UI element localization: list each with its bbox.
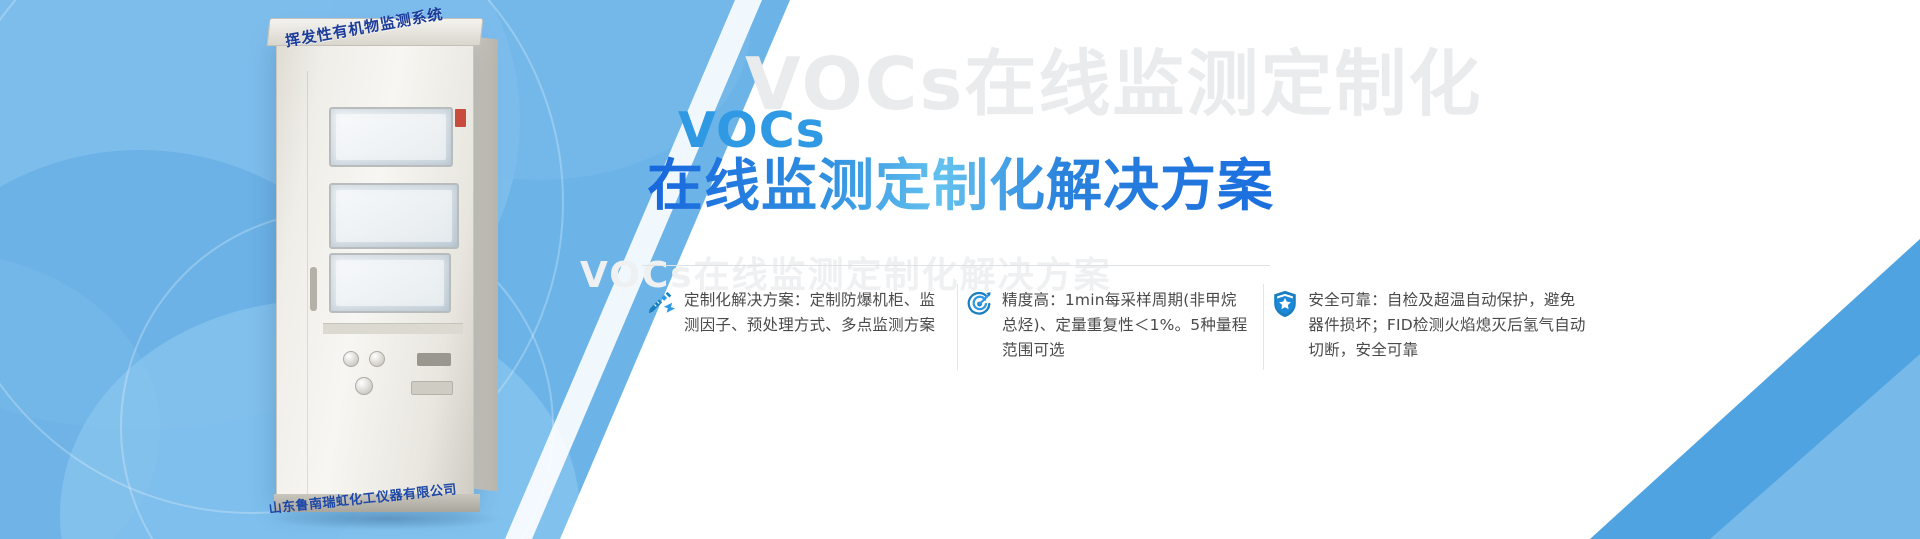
shield-star-icon — [1270, 289, 1300, 319]
feature-text: 安全可靠：自检及超温自动保护，避免器件损坏；FID检测火焰熄灭后氢气自动切断，安… — [1308, 288, 1586, 363]
cabinet-red-indicator — [455, 109, 466, 127]
banner-text-column: VOCs在线监测定制化 VOCs 在线监测定制化解决方案 VOCs在线监测定制化… — [640, 0, 1640, 539]
cabinet-small-display — [417, 353, 451, 366]
target-arrow-icon — [964, 289, 994, 319]
cabinet-door-seam — [307, 71, 308, 509]
cabinet-control-strip — [323, 323, 463, 334]
cabinet-knob — [369, 351, 385, 367]
feature-text: 精度高：1min每采样周期(非甲烷总烃)、定量重复性＜1%。5种量程范围可选 — [1002, 288, 1250, 363]
headline-english: VOCs — [678, 106, 826, 155]
feature-item: 安全可靠：自检及超温自动保护，避免器件损坏；FID检测火焰熄灭后氢气自动切断，安… — [1264, 288, 1600, 363]
cabinet-handle — [310, 267, 317, 311]
ghost-watermark-top: VOCs在线监测定制化 — [745, 48, 1482, 120]
product-photo: 挥发性有机物监测系统 山东鲁南瑞虹化工仪器有限公司 — [258, 8, 518, 528]
feature-text: 定制化解决方案：定制防爆机柜、监测因子、预处理方式、多点监测方案 — [684, 288, 944, 338]
cabinet-small-display — [411, 381, 453, 395]
feature-list: 定制化解决方案：定制防爆机柜、监测因子、预处理方式、多点监测方案 精度高：1mi… — [640, 288, 1600, 363]
horizontal-divider — [642, 265, 1270, 266]
instrument-display-2 — [329, 183, 459, 249]
pencil-ruler-icon — [646, 289, 676, 319]
feature-item: 精度高：1min每采样周期(非甲烷总烃)、定量重复性＜1%。5种量程范围可选 — [958, 288, 1264, 363]
page-title: 在线监测定制化解决方案 — [647, 155, 1274, 219]
cabinet-knob — [343, 351, 359, 367]
cabinet-side-panel — [472, 37, 498, 492]
instrument-display-1 — [329, 107, 453, 167]
cabinet-body — [276, 30, 474, 498]
instrument-display-3 — [329, 253, 451, 313]
feature-item: 定制化解决方案：定制防爆机柜、监测因子、预处理方式、多点监测方案 — [640, 288, 958, 363]
cabinet-knob — [355, 377, 373, 395]
vocs-promo-banner: 挥发性有机物监测系统 山东鲁南瑞虹化工仪器有限公司 VOCs在线监测定制化 VO… — [0, 0, 1920, 539]
